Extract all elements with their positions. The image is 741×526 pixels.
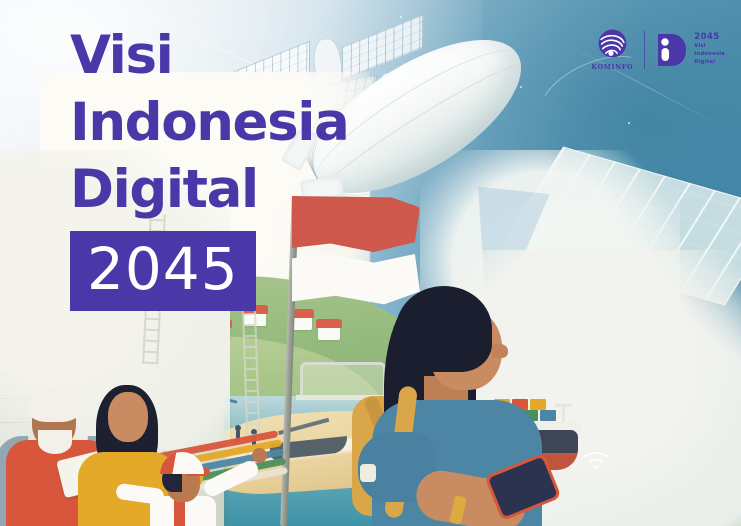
kominfo-wordmark: KOMINFO bbox=[591, 63, 633, 71]
boy-cap bbox=[160, 452, 204, 474]
vid-line-2: Indonesia bbox=[694, 51, 725, 58]
man-hair bbox=[28, 390, 80, 422]
wifi-signal bbox=[578, 452, 618, 478]
vid-line-1: Visi bbox=[694, 43, 725, 50]
boy-necktie bbox=[174, 498, 185, 526]
woman-nose bbox=[492, 344, 508, 358]
kominfo-swirl-icon bbox=[596, 28, 629, 61]
ship-container bbox=[530, 399, 546, 410]
poster-title-block: Visi Indonesia Digital 2045 bbox=[70, 22, 348, 311]
man-beard bbox=[38, 430, 72, 454]
logo-lockup: KOMINFO 2045 Visi Indonesia Digital bbox=[591, 28, 725, 71]
visi-indonesia-digital-logo: 2045 Visi Indonesia Digital bbox=[656, 33, 725, 67]
title-line-2: Indonesia bbox=[70, 89, 348, 156]
vid-d-monogram-icon bbox=[656, 33, 687, 67]
kominfo-logo: KOMINFO bbox=[591, 28, 633, 71]
woman-head bbox=[108, 392, 148, 442]
vid-line-3: Digital bbox=[694, 59, 725, 66]
vid-text-block: 2045 Visi Indonesia Digital bbox=[694, 33, 725, 66]
vid-year: 2045 bbox=[694, 33, 725, 42]
poster-canvas: 5G bbox=[0, 0, 741, 526]
ship-mast bbox=[562, 404, 565, 424]
boy-hand bbox=[252, 448, 267, 463]
ship-container bbox=[540, 410, 556, 421]
woman-hair-top bbox=[396, 286, 492, 372]
suspension-bridge bbox=[300, 362, 386, 398]
title-line-1: Visi bbox=[70, 22, 348, 89]
logo-divider bbox=[644, 31, 645, 69]
village-house bbox=[318, 326, 340, 340]
backpack-buckle bbox=[360, 464, 376, 482]
sky-spark bbox=[628, 122, 630, 124]
year-badge-2045: 2045 bbox=[70, 231, 256, 311]
title-line-3: Digital bbox=[70, 156, 348, 223]
